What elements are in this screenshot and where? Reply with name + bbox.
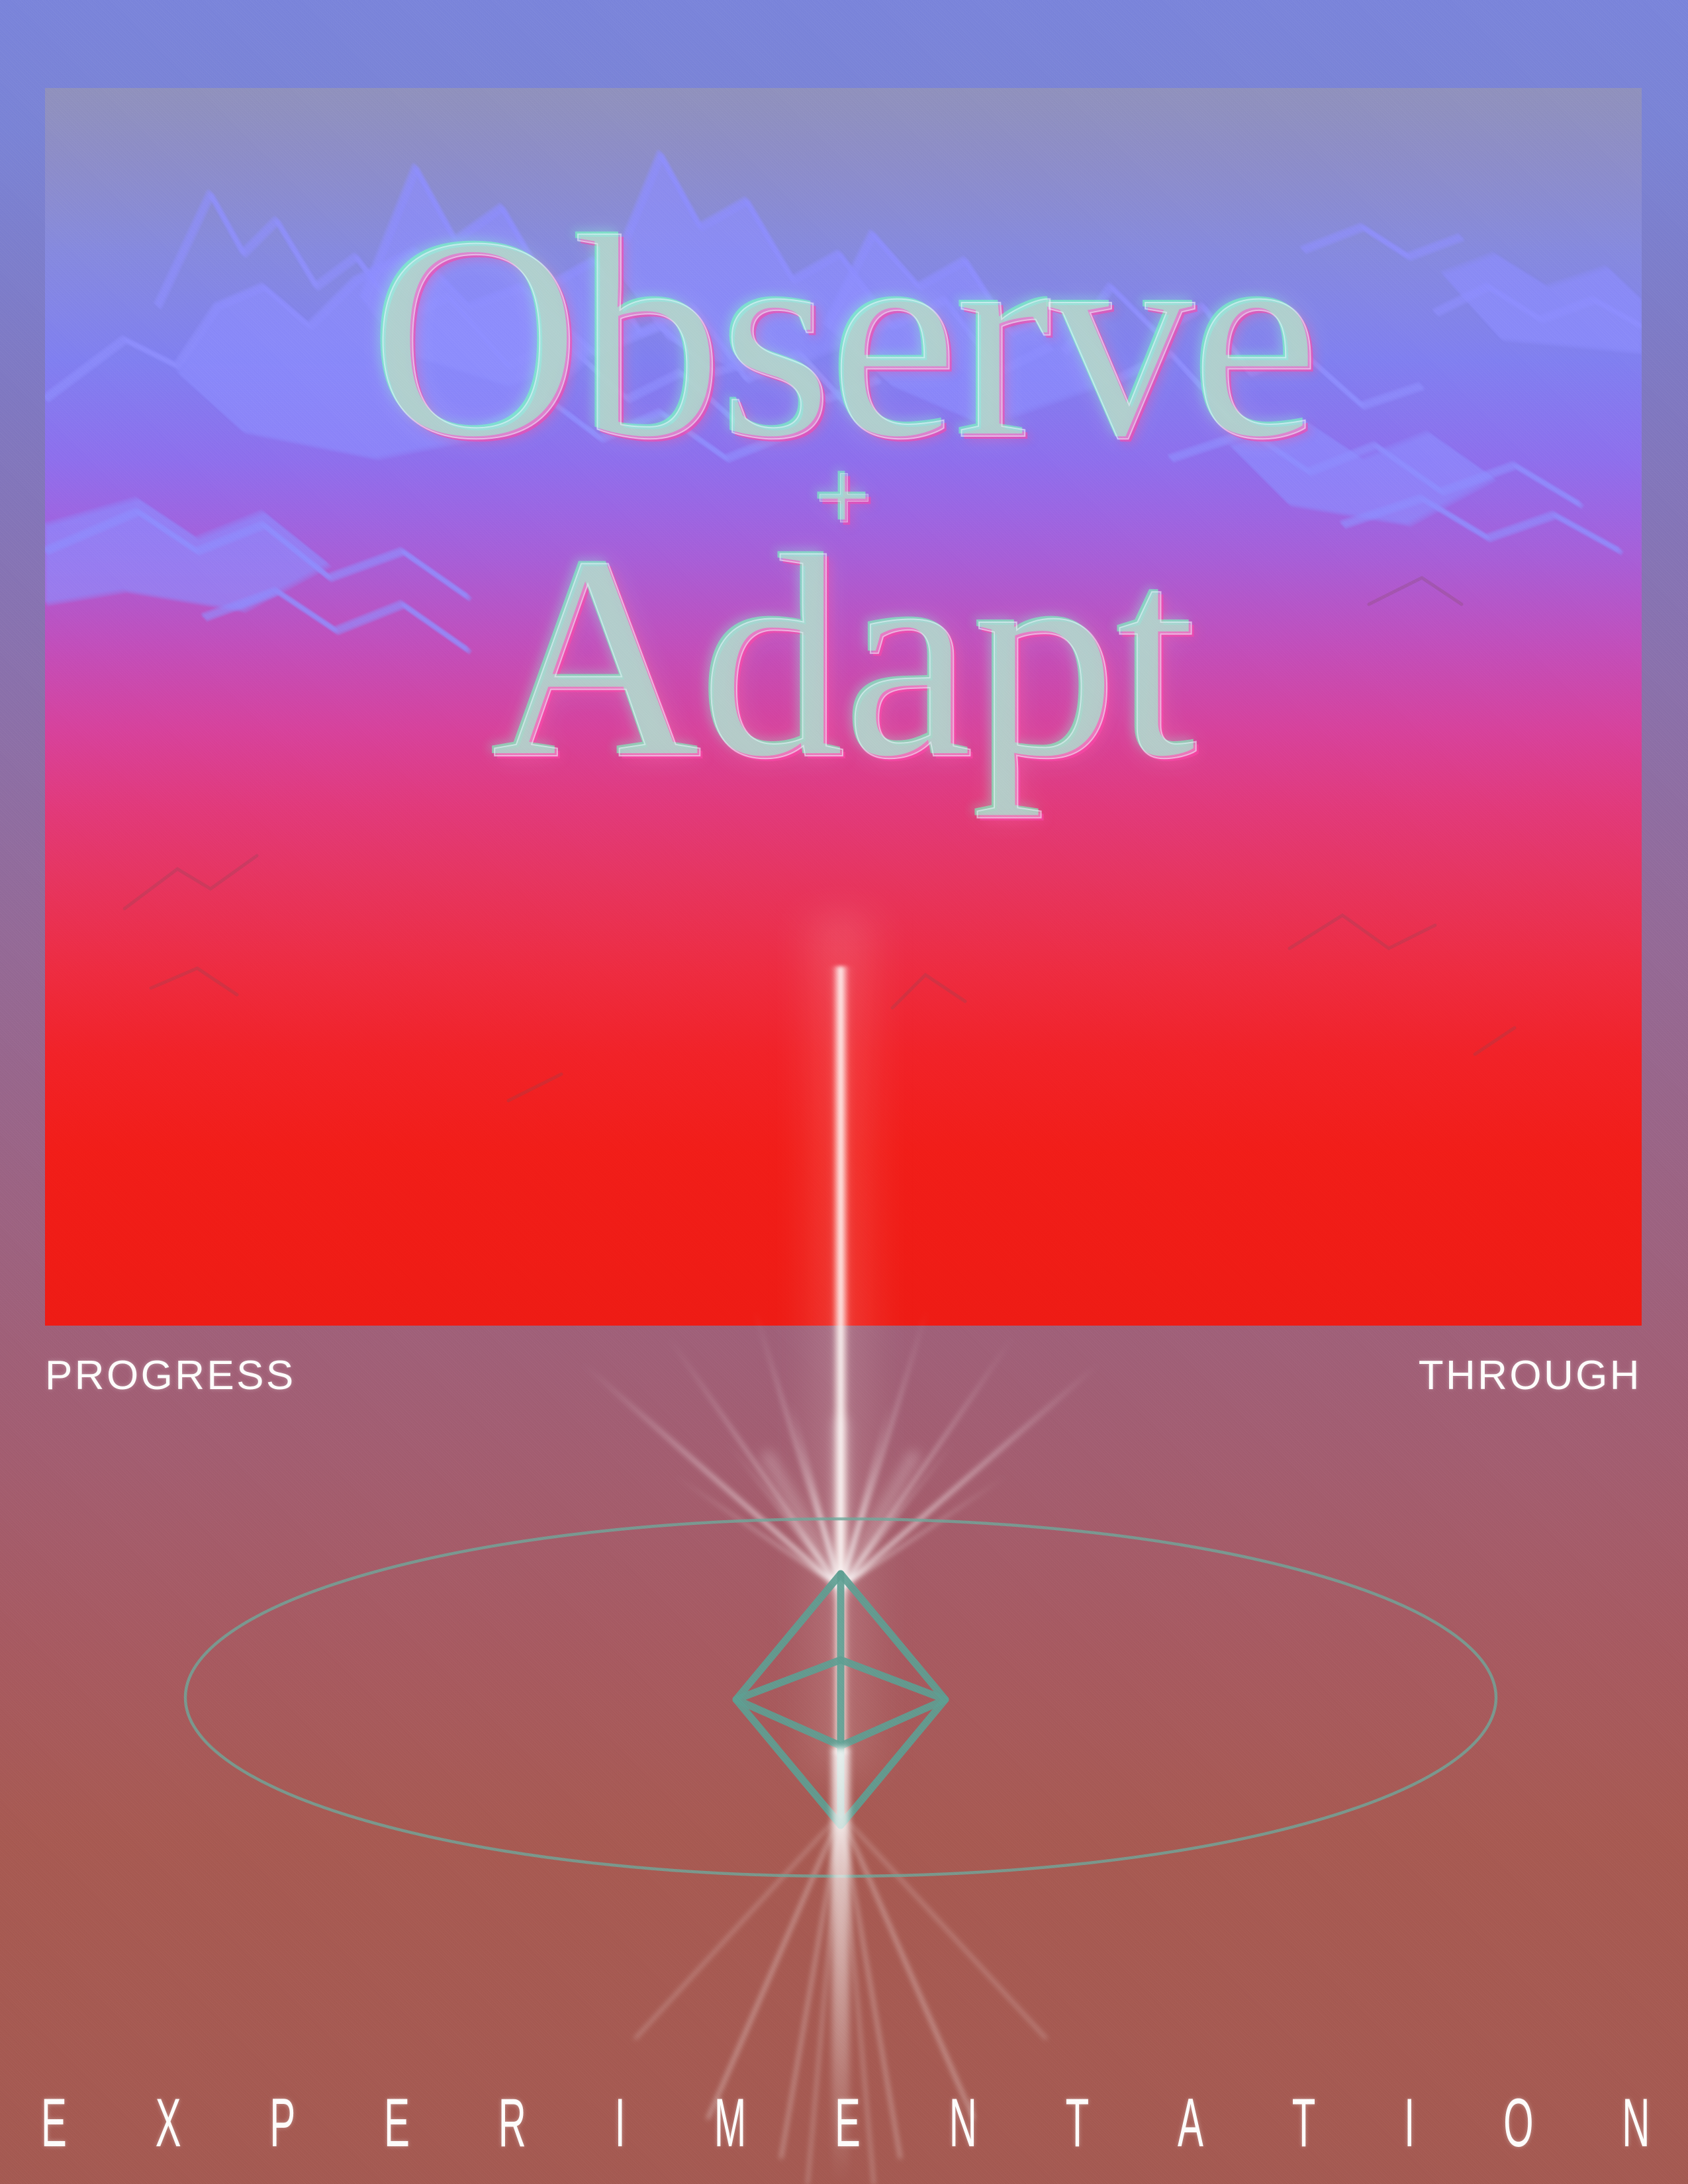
footer-letter: N (949, 2089, 977, 2158)
kicker-row: PROGRESS THROUGH (45, 1355, 1642, 1396)
artwork-panel (45, 88, 1642, 1326)
footer-letter: T (1292, 2089, 1316, 2158)
footer-letter: M (714, 2089, 747, 2158)
footer-letter: A (1178, 2089, 1203, 2158)
footer-letter: E (41, 2089, 67, 2158)
footer-letter: O (1503, 2089, 1533, 2158)
footer-letter: E (835, 2089, 861, 2158)
footer-letter: I (1404, 2089, 1415, 2158)
kicker-right-through: THROUGH (1419, 1355, 1642, 1396)
mountain-shard-texture (45, 88, 1642, 1326)
kicker-left-progress: PROGRESS (45, 1355, 296, 1396)
footer-letter: P (269, 2089, 295, 2158)
footer-letter: T (1066, 2089, 1090, 2158)
panel-grain (45, 88, 1642, 1326)
footer-experimentation: E X P E R I M E N T A T I O N (41, 2089, 1650, 2158)
footer-letter: N (1622, 2089, 1650, 2158)
footer-letter: R (498, 2089, 526, 2158)
footer-letter: X (156, 2089, 181, 2158)
footer-letter: E (384, 2089, 410, 2158)
footer-letter: I (615, 2089, 626, 2158)
panel-haze-overlay (45, 88, 1642, 1326)
poster-root: Observe + Adapt (0, 0, 1688, 2184)
